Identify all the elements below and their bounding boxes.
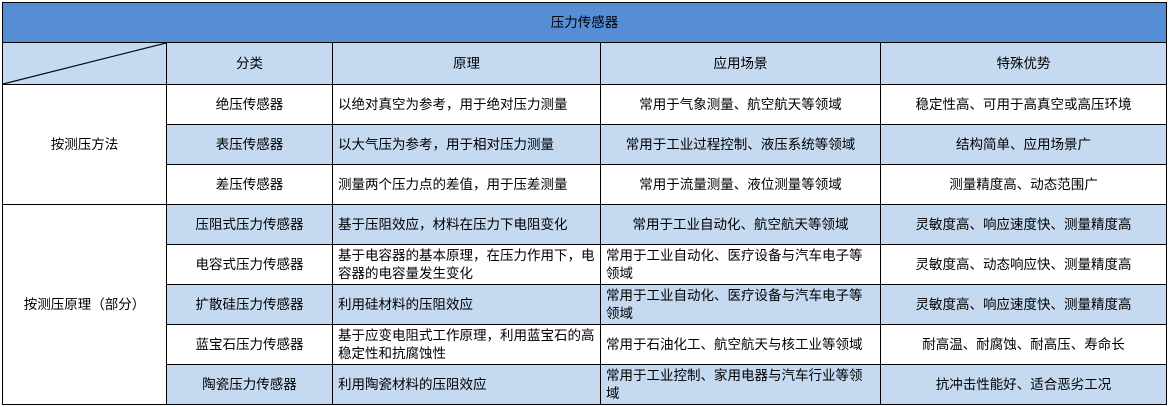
spreadsheet-canvas: 压力传感器 分类 原理 应用场景 特殊优势 按测压方法 绝压传感器 以绝对真空为… [0,2,1175,407]
cell-application: 常用于工业过程控制、液压系统等领域 [601,125,881,165]
cell-application: 常用于工业自动化、航空航天等领域 [601,205,881,245]
header-principle: 原理 [333,43,601,85]
cell-category: 压阻式压力传感器 [167,205,333,245]
cell-advantage: 测量精度高、动态范围广 [881,165,1167,205]
pressure-sensor-table: 压力传感器 分类 原理 应用场景 特殊优势 按测压方法 绝压传感器 以绝对真空为… [2,2,1167,405]
group-label-measure-principle: 按测压原理（部分） [3,205,167,405]
cell-principle: 利用硅材料的压阻效应 [333,285,601,325]
table-row: 按测压方法 绝压传感器 以绝对真空为参考，用于绝对压力测量 常用于气象测量、航空… [3,85,1167,125]
cell-principle: 基于压阻效应，材料在压力下电阻变化 [333,205,601,245]
table-row: 差压传感器 测量两个压力点的差值，用于压差测量 常用于流量测量、液位测量等领域 … [3,165,1167,205]
cell-principle: 利用陶瓷材料的压阻效应 [333,365,601,405]
table-header-row: 分类 原理 应用场景 特殊优势 [3,43,1167,85]
cell-category: 差压传感器 [167,165,333,205]
table-row: 按测压原理（部分） 压阻式压力传感器 基于压阻效应，材料在压力下电阻变化 常用于… [3,205,1167,245]
page-title: 压力传感器 [3,3,1167,43]
cell-category: 陶瓷压力传感器 [167,365,333,405]
table-row: 电容式压力传感器 基于电容器的基本原理，在压力作用下，电容器的电容量发生变化 常… [3,245,1167,285]
cell-principle: 基于电容器的基本原理，在压力作用下，电容器的电容量发生变化 [333,245,601,285]
cell-principle: 测量两个压力点的差值，用于压差测量 [333,165,601,205]
cell-advantage: 抗冲击性能好、适合恶劣工况 [881,365,1167,405]
table-row: 蓝宝石压力传感器 基于应变电阻式工作原理，利用蓝宝石的高稳定性和抗腐蚀性 常用于… [3,325,1167,365]
header-category: 分类 [167,43,333,85]
cell-application: 常用于石油化工、航空航天与核工业等领域 [601,325,881,365]
cell-category: 扩散硅压力传感器 [167,285,333,325]
table-row: 表压传感器 以大气压为参考，用于相对压力测量 常用于工业过程控制、液压系统等领域… [3,125,1167,165]
cell-advantage: 结构简单、应用场景广 [881,125,1167,165]
cell-advantage: 灵敏度高、响应速度快、测量精度高 [881,285,1167,325]
cell-application: 常用于工业自动化、医疗设备与汽车电子等领域 [601,245,881,285]
diagonal-split-icon [3,43,166,84]
cell-advantage: 耐高温、耐腐蚀、耐高压、寿命长 [881,325,1167,365]
table-row: 扩散硅压力传感器 利用硅材料的压阻效应 常用于工业自动化、医疗设备与汽车电子等领… [3,285,1167,325]
corner-diagonal-cell [3,43,167,85]
cell-application: 常用于工业自动化、医疗设备与汽车电子等领域 [601,285,881,325]
cell-category: 电容式压力传感器 [167,245,333,285]
cell-advantage: 灵敏度高、动态响应快、测量精度高 [881,245,1167,285]
cell-application: 常用于工业控制、家用电器与汽车行业等领域 [601,365,881,405]
cell-principle: 以大气压为参考，用于相对压力测量 [333,125,601,165]
cell-category: 表压传感器 [167,125,333,165]
cell-application: 常用于流量测量、液位测量等领域 [601,165,881,205]
table-row: 陶瓷压力传感器 利用陶瓷材料的压阻效应 常用于工业控制、家用电器与汽车行业等领域… [3,365,1167,405]
table-title-row: 压力传感器 [3,3,1167,43]
cell-application: 常用于气象测量、航空航天等领域 [601,85,881,125]
cell-principle: 基于应变电阻式工作原理，利用蓝宝石的高稳定性和抗腐蚀性 [333,325,601,365]
group-label-measure-method: 按测压方法 [3,85,167,205]
cell-principle: 以绝对真空为参考，用于绝对压力测量 [333,85,601,125]
header-application: 应用场景 [601,43,881,85]
cell-category: 绝压传感器 [167,85,333,125]
cell-category: 蓝宝石压力传感器 [167,325,333,365]
cell-advantage: 稳定性高、可用于高真空或高压环境 [881,85,1167,125]
header-advantage: 特殊优势 [881,43,1167,85]
cell-advantage: 灵敏度高、响应速度快、测量精度高 [881,205,1167,245]
